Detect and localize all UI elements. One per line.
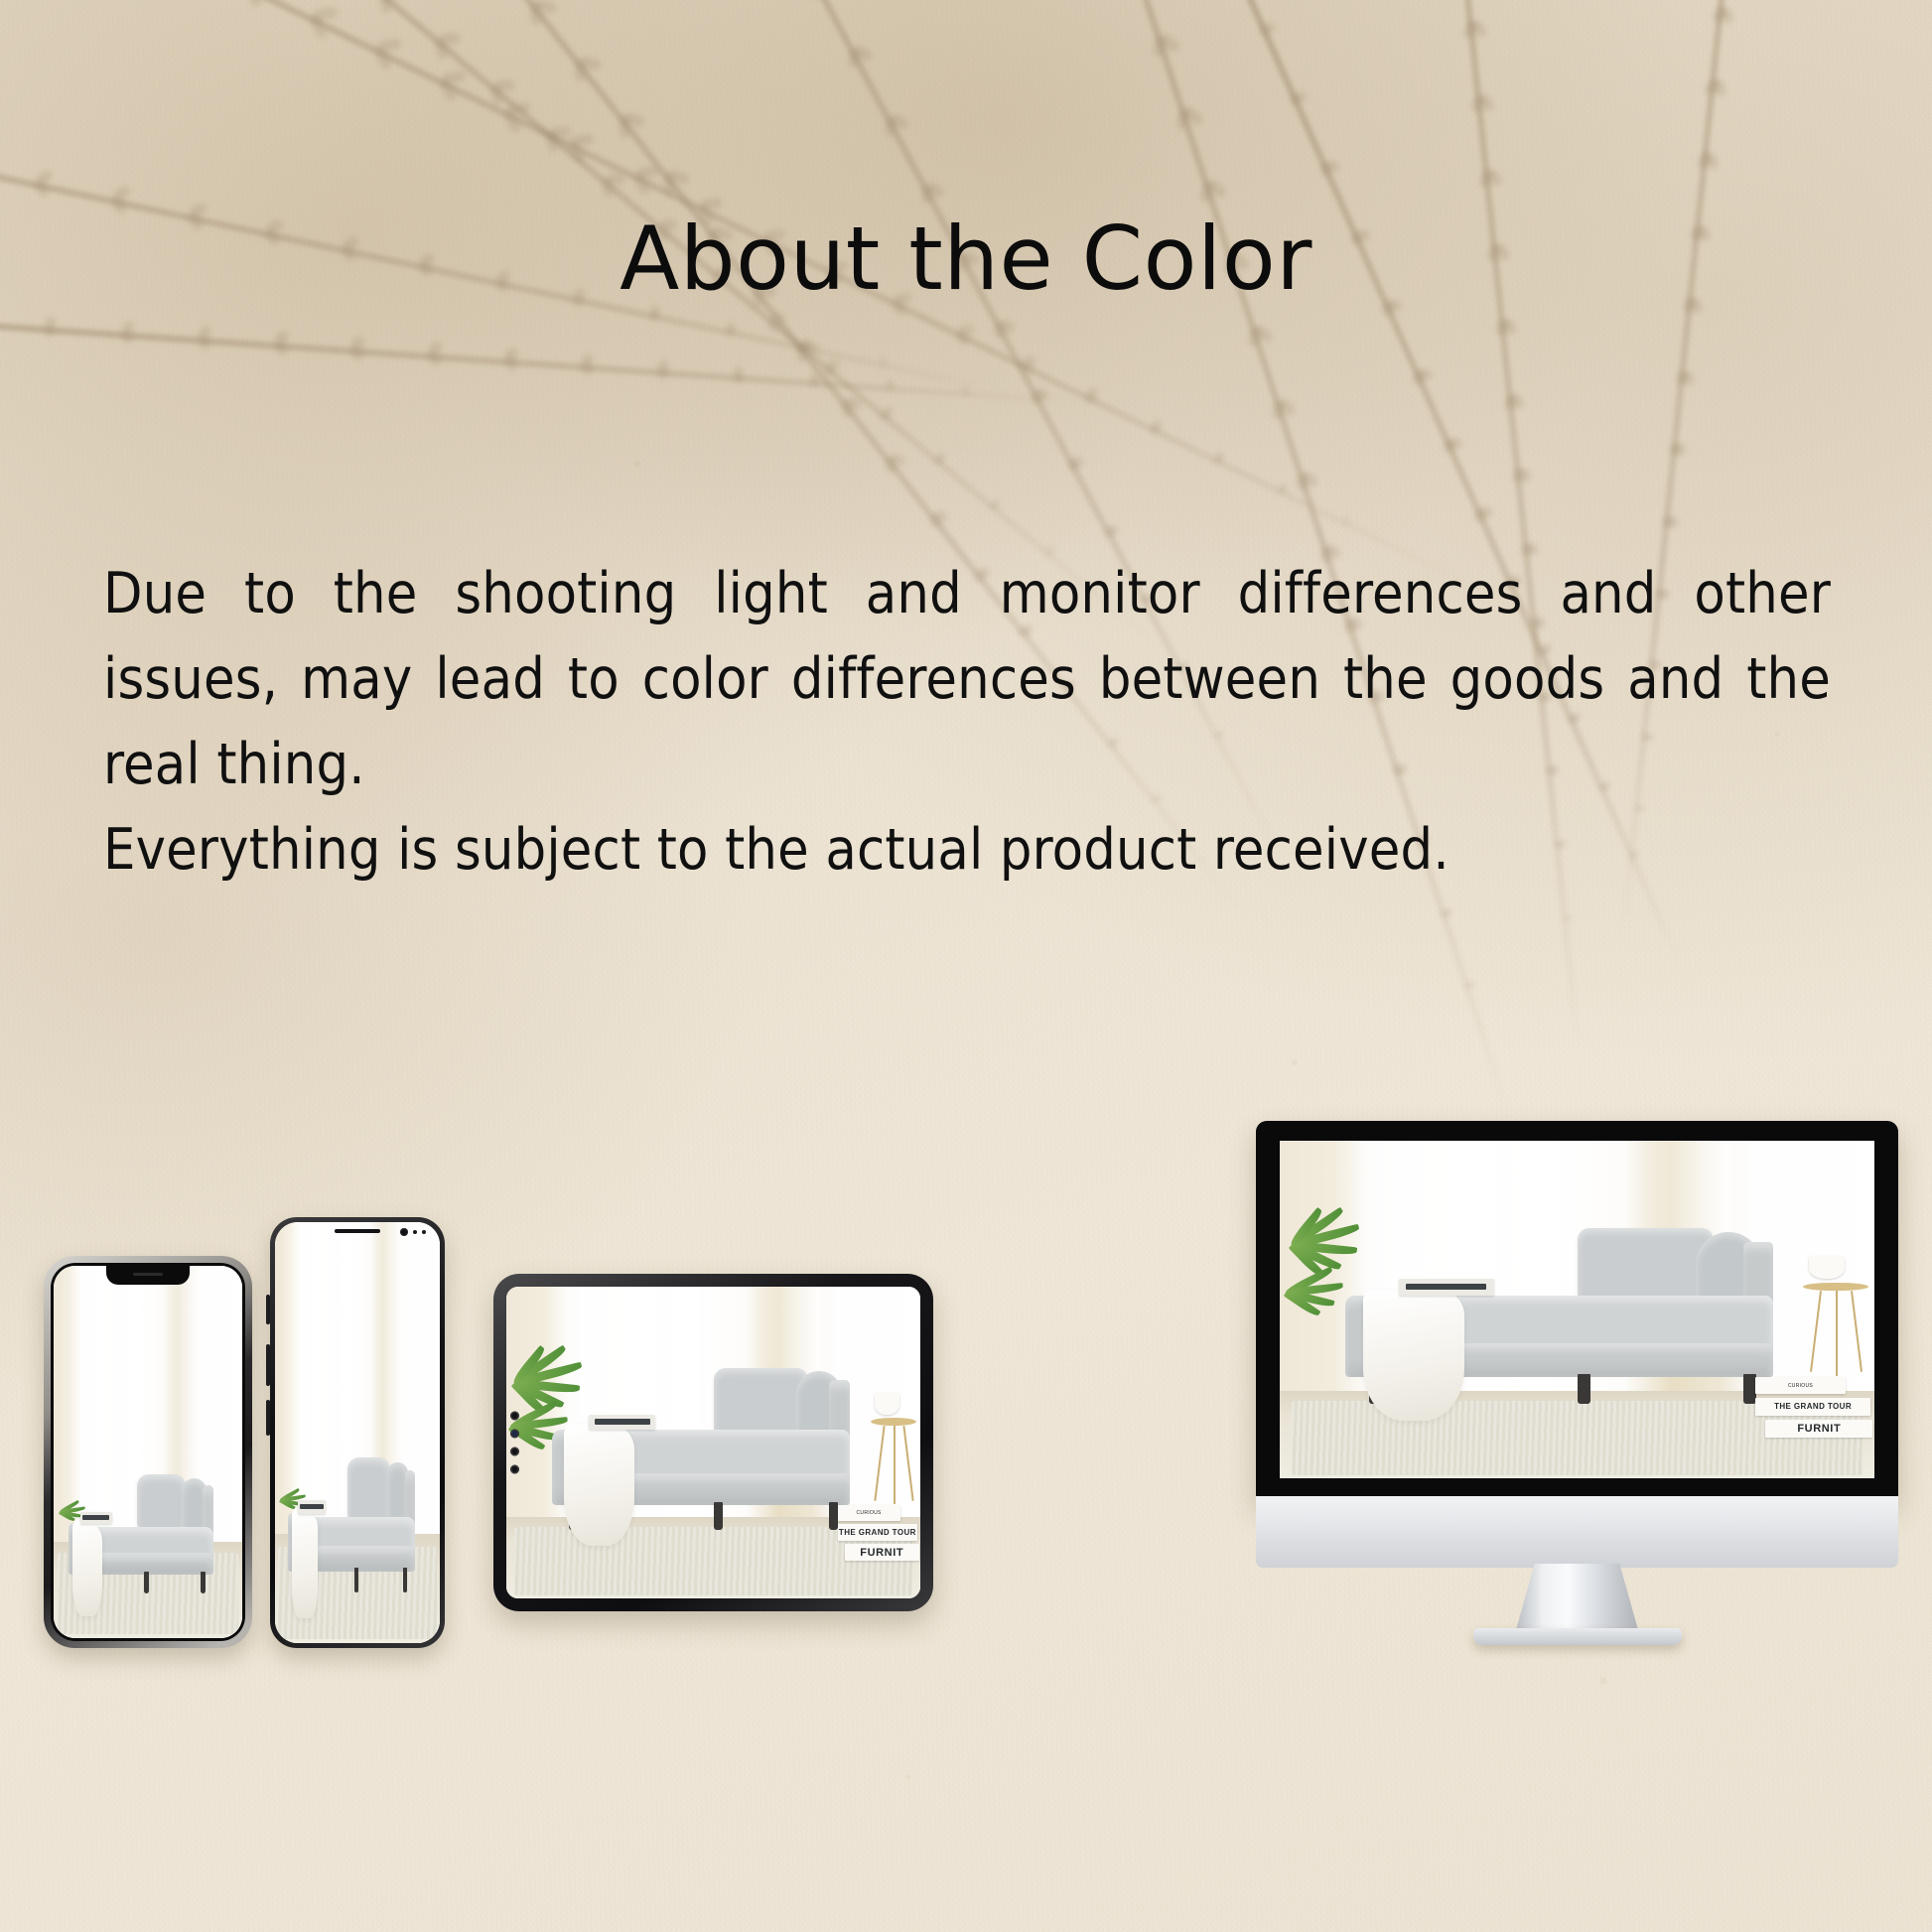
photo-book: CURIOUS [1755,1377,1846,1394]
photo-sofa-cushion [347,1457,390,1525]
photo-book-furniture: FURNIT [845,1544,919,1561]
photo-book-furniture: FURNIT [1765,1420,1872,1438]
photo-sofa-leg [201,1572,206,1594]
android-power-button[interactable] [266,1400,270,1436]
photo-curtain [282,1222,347,1500]
product-photo [54,1266,242,1638]
product-photo: CURIOUSTHE GRAND TOURFURNIT [506,1287,920,1598]
android-front-camera-icon [400,1228,426,1236]
page-canvas: About the Color Due to the shooting ligh… [0,0,1932,1932]
photo-sofa-cushion [137,1474,186,1534]
photo-sofa-leg [144,1572,149,1594]
monitor-stand-base [1473,1628,1682,1645]
photo-cup [875,1393,899,1415]
tablet-front-camera-icon [510,1412,519,1474]
photo-book-grand-tour: THE GRAND TOUR [838,1524,918,1541]
monitor-stand-neck [1515,1564,1640,1635]
photo-table-top [871,1418,916,1426]
product-photo: CURIOUSTHE GRAND TOURFURNIT [1280,1141,1874,1478]
photo-throw-blanket [564,1424,634,1545]
monitor-screen: CURIOUSTHE GRAND TOURFURNIT [1280,1141,1874,1478]
android-earpiece-icon [335,1229,380,1233]
monitor-chin [1256,1496,1898,1568]
photo-magazine [80,1512,112,1525]
photo-side-table [871,1418,916,1505]
photo-cup [1809,1256,1845,1280]
product-photo [275,1222,440,1643]
photo-side-table [1803,1283,1868,1377]
photo-book-stack: CURIOUSTHE GRAND TOURFURNIT [838,1505,920,1562]
photo-sofa-leg [403,1568,407,1592]
photo-throw-blanket [292,1508,319,1617]
photo-magazine [589,1415,655,1431]
device-iphone [44,1256,252,1648]
device-android-phone [270,1217,445,1648]
iphone-bezel [51,1263,245,1641]
photo-throw-blanket [1363,1290,1464,1422]
photo-book-grand-tour: THE GRAND TOUR [1755,1398,1870,1416]
tablet-screen: CURIOUSTHE GRAND TOURFURNIT [506,1287,920,1598]
photo-curtain [62,1266,137,1512]
photo-book: CURIOUS [838,1505,900,1521]
monitor-panel: CURIOUSTHE GRAND TOURFURNIT [1256,1121,1898,1500]
android-volume-button[interactable] [266,1344,270,1386]
android-mute-button[interactable] [266,1295,270,1324]
photo-magazine [298,1500,326,1514]
device-mockup-group: CURIOUSTHE GRAND TOURFURNIT CURIOUSTHE G… [0,0,1932,1932]
photo-throw-blanket [72,1519,102,1616]
photo-magazine [1399,1279,1494,1296]
photo-table-top [1803,1283,1868,1292]
iphone-screen [54,1266,242,1638]
iphone-notch-icon [106,1266,190,1285]
photo-sofa-leg [354,1568,358,1592]
photo-book-stack: CURIOUSTHE GRAND TOURFURNIT [1755,1377,1874,1438]
device-desktop-monitor: CURIOUSTHE GRAND TOURFURNIT [1256,1121,1898,1595]
device-tablet: CURIOUSTHE GRAND TOURFURNIT [493,1274,933,1611]
photo-sofa-leg [1578,1374,1590,1405]
photo-sofa-leg [714,1502,723,1530]
android-screen [275,1222,440,1643]
